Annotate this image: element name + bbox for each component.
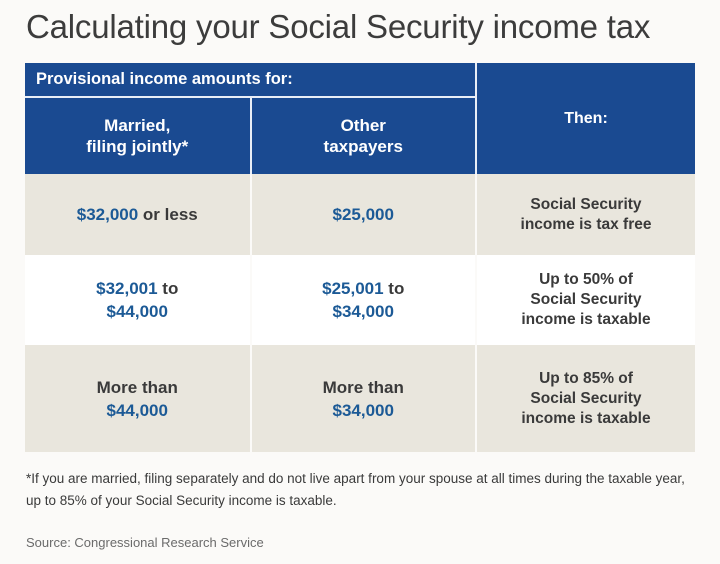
then-row2-line3: income is taxable <box>521 311 650 328</box>
cell-then-row3: Up to 85% of Social Security income is t… <box>476 345 695 452</box>
amount2-other-row3: $34,000 <box>333 401 394 420</box>
prefix-married-row3: More than <box>97 378 178 397</box>
cell-other-row3: More than $34,000 <box>251 345 477 452</box>
then-row1-line2: income is tax free <box>521 216 652 233</box>
table-row: More than $44,000 More than $34,000 Up t… <box>25 345 695 452</box>
table-group-header-row: Provisional income amounts for: Then: <box>25 63 695 97</box>
amount-other-row1: $25,000 <box>333 205 394 224</box>
suffix-other-row2: to <box>384 279 405 298</box>
cell-married-row2: $32,001 to $44,000 <box>25 255 251 345</box>
then-column-header: Then: <box>476 63 695 174</box>
table-row: $32,000 or less $25,000 Social Security … <box>25 174 695 255</box>
source-credit: Source: Congressional Research Service <box>26 535 264 550</box>
cell-married-row3: More than $44,000 <box>25 345 251 452</box>
column-header-other-line1: Other <box>341 116 386 135</box>
suffix-married-row2: to <box>158 279 179 298</box>
column-header-married-line1: Married, <box>104 116 170 135</box>
column-header-other: Other taxpayers <box>251 97 477 174</box>
column-header-other-line2: taxpayers <box>324 137 403 156</box>
cell-then-row2: Up to 50% of Social Security income is t… <box>476 255 695 345</box>
then-row3-line3: income is taxable <box>521 410 650 427</box>
table-row: $32,001 to $44,000 $25,001 to $34,000 Up… <box>25 255 695 345</box>
cell-other-row2: $25,001 to $34,000 <box>251 255 477 345</box>
then-row3-line2: Social Security <box>530 390 641 407</box>
column-header-married-line2: filing jointly* <box>86 137 188 156</box>
amount-other-row2: $25,001 <box>322 279 383 298</box>
then-row3-line1: Up to 85% of <box>539 370 633 387</box>
then-row1-line1: Social Security <box>530 196 641 213</box>
group-header-label: Provisional income amounts for: <box>25 63 476 97</box>
amount-married-row2: $32,001 <box>96 279 157 298</box>
cell-married-row1: $32,000 or less <box>25 174 251 255</box>
prefix-other-row3: More than <box>323 378 404 397</box>
column-header-married: Married, filing jointly* <box>25 97 251 174</box>
provisional-income-table-wrapper: Provisional income amounts for: Then: Ma… <box>25 63 695 452</box>
cell-then-row1: Social Security income is tax free <box>476 174 695 255</box>
footnote: *If you are married, filing separately a… <box>26 468 698 512</box>
amount-married-row1: $32,000 <box>77 205 138 224</box>
then-row2-line2: Social Security <box>530 291 641 308</box>
page-title: Calculating your Social Security income … <box>26 6 696 48</box>
suffix-married-row1: or less <box>138 205 198 224</box>
amount2-married-row3: $44,000 <box>107 401 168 420</box>
amount2-married-row2: $44,000 <box>107 302 168 321</box>
then-row2-line1: Up to 50% of <box>539 271 633 288</box>
amount2-other-row2: $34,000 <box>333 302 394 321</box>
cell-other-row1: $25,000 <box>251 174 477 255</box>
provisional-income-table: Provisional income amounts for: Then: Ma… <box>25 63 695 452</box>
